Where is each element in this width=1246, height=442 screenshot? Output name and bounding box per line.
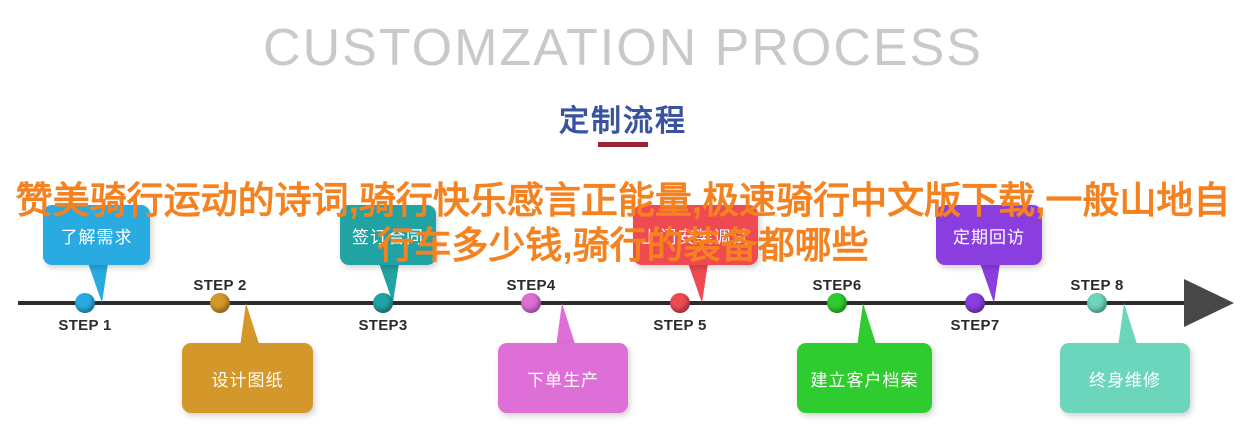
watermark-overlay-text: 赞美骑行运动的诗词,骑行快乐感言正能量,极速骑行中文版下载,一般山地自行车多少钱…: [0, 178, 1246, 268]
timeline-axis-line: [18, 301, 1190, 305]
callout-tail-step-2: [240, 303, 260, 347]
timeline-step-label-3: STEP3: [358, 317, 407, 334]
timeline-step-label-2: STEP 2: [193, 277, 246, 294]
page-title-english: CUSTOMZATION PROCESS: [0, 18, 1246, 78]
slide-canvas: CUSTOMZATION PROCESS 定制流程 STEP 1了解需求STEP…: [0, 0, 1246, 442]
timeline-dot-step-5[interactable]: [670, 293, 690, 313]
callout-tail-step-8: [1118, 303, 1138, 347]
timeline-dot-step-7[interactable]: [965, 293, 985, 313]
callout-tail-step-5: [688, 263, 708, 303]
timeline-callout-step-7[interactable]: 定期回访: [936, 205, 1042, 265]
title-underline-rule: [598, 142, 648, 147]
timeline-step-label-5: STEP 5: [653, 317, 706, 334]
page-title-chinese: 定制流程: [0, 96, 1246, 140]
timeline-step-label-4: STEP4: [506, 277, 555, 294]
timeline-callout-step-2[interactable]: 设计图纸: [182, 343, 313, 413]
timeline-step-label-7: STEP7: [950, 317, 999, 334]
timeline-dot-step-4[interactable]: [521, 293, 541, 313]
timeline-arrow-icon: [1184, 279, 1234, 327]
timeline-callout-step-5[interactable]: 上门安装调试: [633, 205, 758, 265]
timeline-dot-step-8[interactable]: [1087, 293, 1107, 313]
timeline-step-label-6: STEP6: [812, 277, 861, 294]
timeline-callout-step-1[interactable]: 了解需求: [43, 205, 150, 265]
timeline-step-label-8: STEP 8: [1070, 277, 1123, 294]
callout-tail-step-4: [556, 303, 576, 347]
timeline-dot-step-2[interactable]: [210, 293, 230, 313]
timeline-dot-step-6[interactable]: [827, 293, 847, 313]
callout-tail-step-6: [857, 303, 877, 347]
timeline-dot-step-1[interactable]: [75, 293, 95, 313]
timeline-callout-step-3[interactable]: 签订合同: [340, 205, 436, 265]
timeline-callout-step-4[interactable]: 下单生产: [498, 343, 628, 413]
timeline-step-label-1: STEP 1: [58, 317, 111, 334]
timeline-dot-step-3[interactable]: [373, 293, 393, 313]
timeline-callout-step-8[interactable]: 终身维修: [1060, 343, 1190, 413]
timeline-callout-step-6[interactable]: 建立客户档案: [797, 343, 932, 413]
